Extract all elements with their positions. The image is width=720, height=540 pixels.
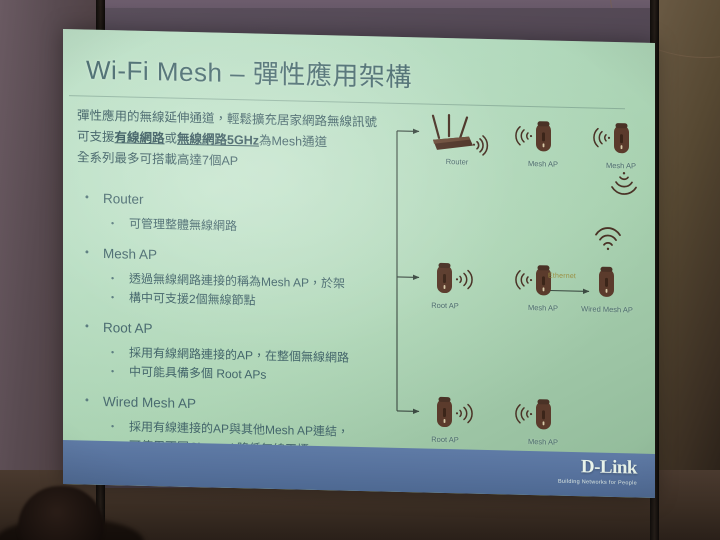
lead-paragraph: 彈性應用的無線延伸通道，輕鬆擴充居家網路無線訊號 可支援有線網路或無線網路5GH… [77,105,437,176]
access-point-icon [593,264,627,305]
diagram-node-mesh-ap-4: Mesh AP [511,396,559,435]
diagram-node-mesh-ap-3: Mesh AP [511,262,559,301]
diagram-node-wired-mesh-ap: Wired Mesh AP [593,264,623,303]
wifi-signal-down-icon [607,170,641,197]
slide-surface: Wi-Fi Mesh – 彈性應用架構 彈性應用的無線延伸通道，輕鬆擴充居家網路… [63,29,655,498]
node-label: Mesh AP [528,159,558,169]
bullet-router: Router [77,189,429,215]
projected-slide-photo: Wi-Fi Mesh – 彈性應用架構 彈性應用的無線延伸通道，輕鬆擴充居家網路… [0,0,720,540]
router-icon [427,114,499,158]
access-point-icon [431,394,487,435]
bullet-list: Router 可管理整體無線網路 Mesh AP 透過無線網路連接的稱為Mesh… [77,177,429,462]
diagram-node-mesh-ap-2: Mesh AP [589,119,637,158]
diagram-node-root-ap-1: Root AP [431,260,479,299]
node-label: Root AP [431,435,459,445]
ethernet-link-label: Ethernet [548,272,576,280]
emphasis-wired-network: 有線網路 [115,130,165,145]
lead-line-2-post: 為Mesh通道 [259,134,327,150]
bullet-mesh-ap: Mesh AP [77,244,429,270]
node-label: Wired Mesh AP [581,304,633,314]
node-label: Mesh AP [528,437,558,447]
bullet-wired-mesh-ap: Wired Mesh AP [77,392,429,418]
diagram-node-root-ap-2: Root AP [431,394,479,433]
dlink-brand-text: D-Link [558,456,637,480]
dlink-logo: D-Link Building Networks for People [558,456,637,487]
bullet-root-ap: Root AP [77,318,429,344]
diagram-node-mesh-ap-1: Mesh AP [511,118,559,157]
access-point-icon [431,260,487,301]
lead-line-2-pre: 可支援 [77,129,115,144]
access-point-icon [511,262,565,303]
diagram-node-router: Router [427,114,485,155]
lead-line-2-mid: 或 [165,131,178,145]
node-label: Mesh AP [528,303,558,313]
dlink-tagline: Building Networks for People [558,479,637,487]
access-point-icon [589,119,643,160]
emphasis-wireless-5ghz: 無線網路5GHz [177,132,259,148]
node-label: Router [446,157,469,167]
mesh-topology-diagram: Router Mesh AP [393,109,651,447]
node-label: Root AP [431,301,459,311]
bullet-router-sub-1: 可管理整體無線網路 [77,213,429,240]
access-point-icon [511,396,565,437]
slide-title: Wi-Fi Mesh – 彈性應用架構 [86,50,412,95]
wifi-signal-up-icon [591,225,625,252]
access-point-icon [511,118,565,159]
wall-right [654,0,720,540]
